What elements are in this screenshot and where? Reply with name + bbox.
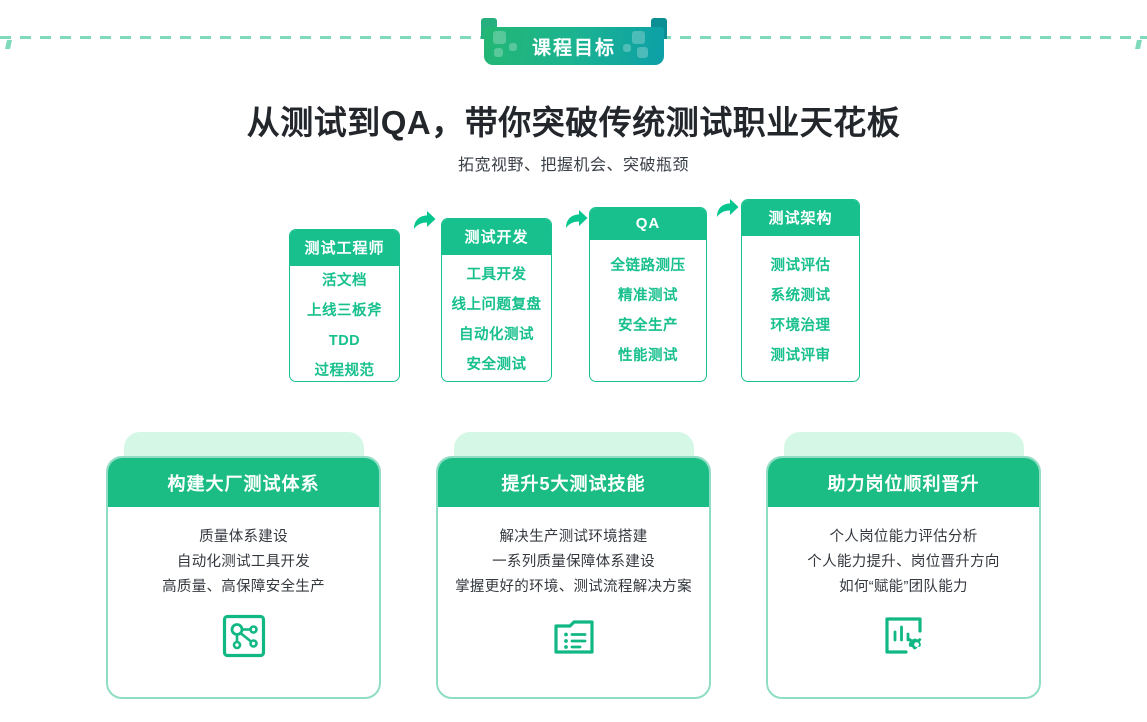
feature-card-line: 自动化测试工具开发 [118,550,369,575]
feature-card-body: 质量体系建设自动化测试工具开发高质量、高保障安全生产 [108,507,379,600]
feature-card-line: 一系列质量保障体系建设 [448,550,699,575]
feature-card-title: 构建大厂测试体系 [108,458,379,507]
folder-list-icon [438,614,709,658]
feature-card-line: 解决生产测试环境搭建 [448,525,699,550]
feature-card-line: 个人岗位能力评估分析 [778,525,1029,550]
feature-card-1[interactable]: 构建大厂测试体系质量体系建设自动化测试工具开发高质量、高保障安全生产 [106,456,381,699]
feature-card-line: 如何“赋能”团队能力 [778,575,1029,600]
feature-card-3[interactable]: 助力岗位顺利晋升个人岗位能力评估分析个人能力提升、岗位晋升方向如何“赋能”团队能… [766,456,1041,699]
network-share-icon [108,614,379,658]
feature-card-list: 构建大厂测试体系质量体系建设自动化测试工具开发高质量、高保障安全生产 提升5大测… [0,0,1147,722]
feature-card-body: 解决生产测试环境搭建一系列质量保障体系建设掌握更好的环境、测试流程解决方案 [438,507,709,600]
chart-gear-icon [768,614,1039,658]
feature-card-title: 助力岗位顺利晋升 [768,458,1039,507]
feature-card-2[interactable]: 提升5大测试技能解决生产测试环境搭建一系列质量保障体系建设掌握更好的环境、测试流… [436,456,711,699]
feature-card-title: 提升5大测试技能 [438,458,709,507]
feature-card-line: 质量体系建设 [118,525,369,550]
feature-card-line: 高质量、高保障安全生产 [118,575,369,600]
feature-card-line: 个人能力提升、岗位晋升方向 [778,550,1029,575]
course-goal-page: 课程目标 从测试到QA，带你突破传统测试职业天花板 拓宽视野、把握机会、突破瓶颈… [0,0,1147,722]
feature-card-line: 掌握更好的环境、测试流程解决方案 [448,575,699,600]
feature-card-body: 个人岗位能力评估分析个人能力提升、岗位晋升方向如何“赋能”团队能力 [768,507,1039,600]
